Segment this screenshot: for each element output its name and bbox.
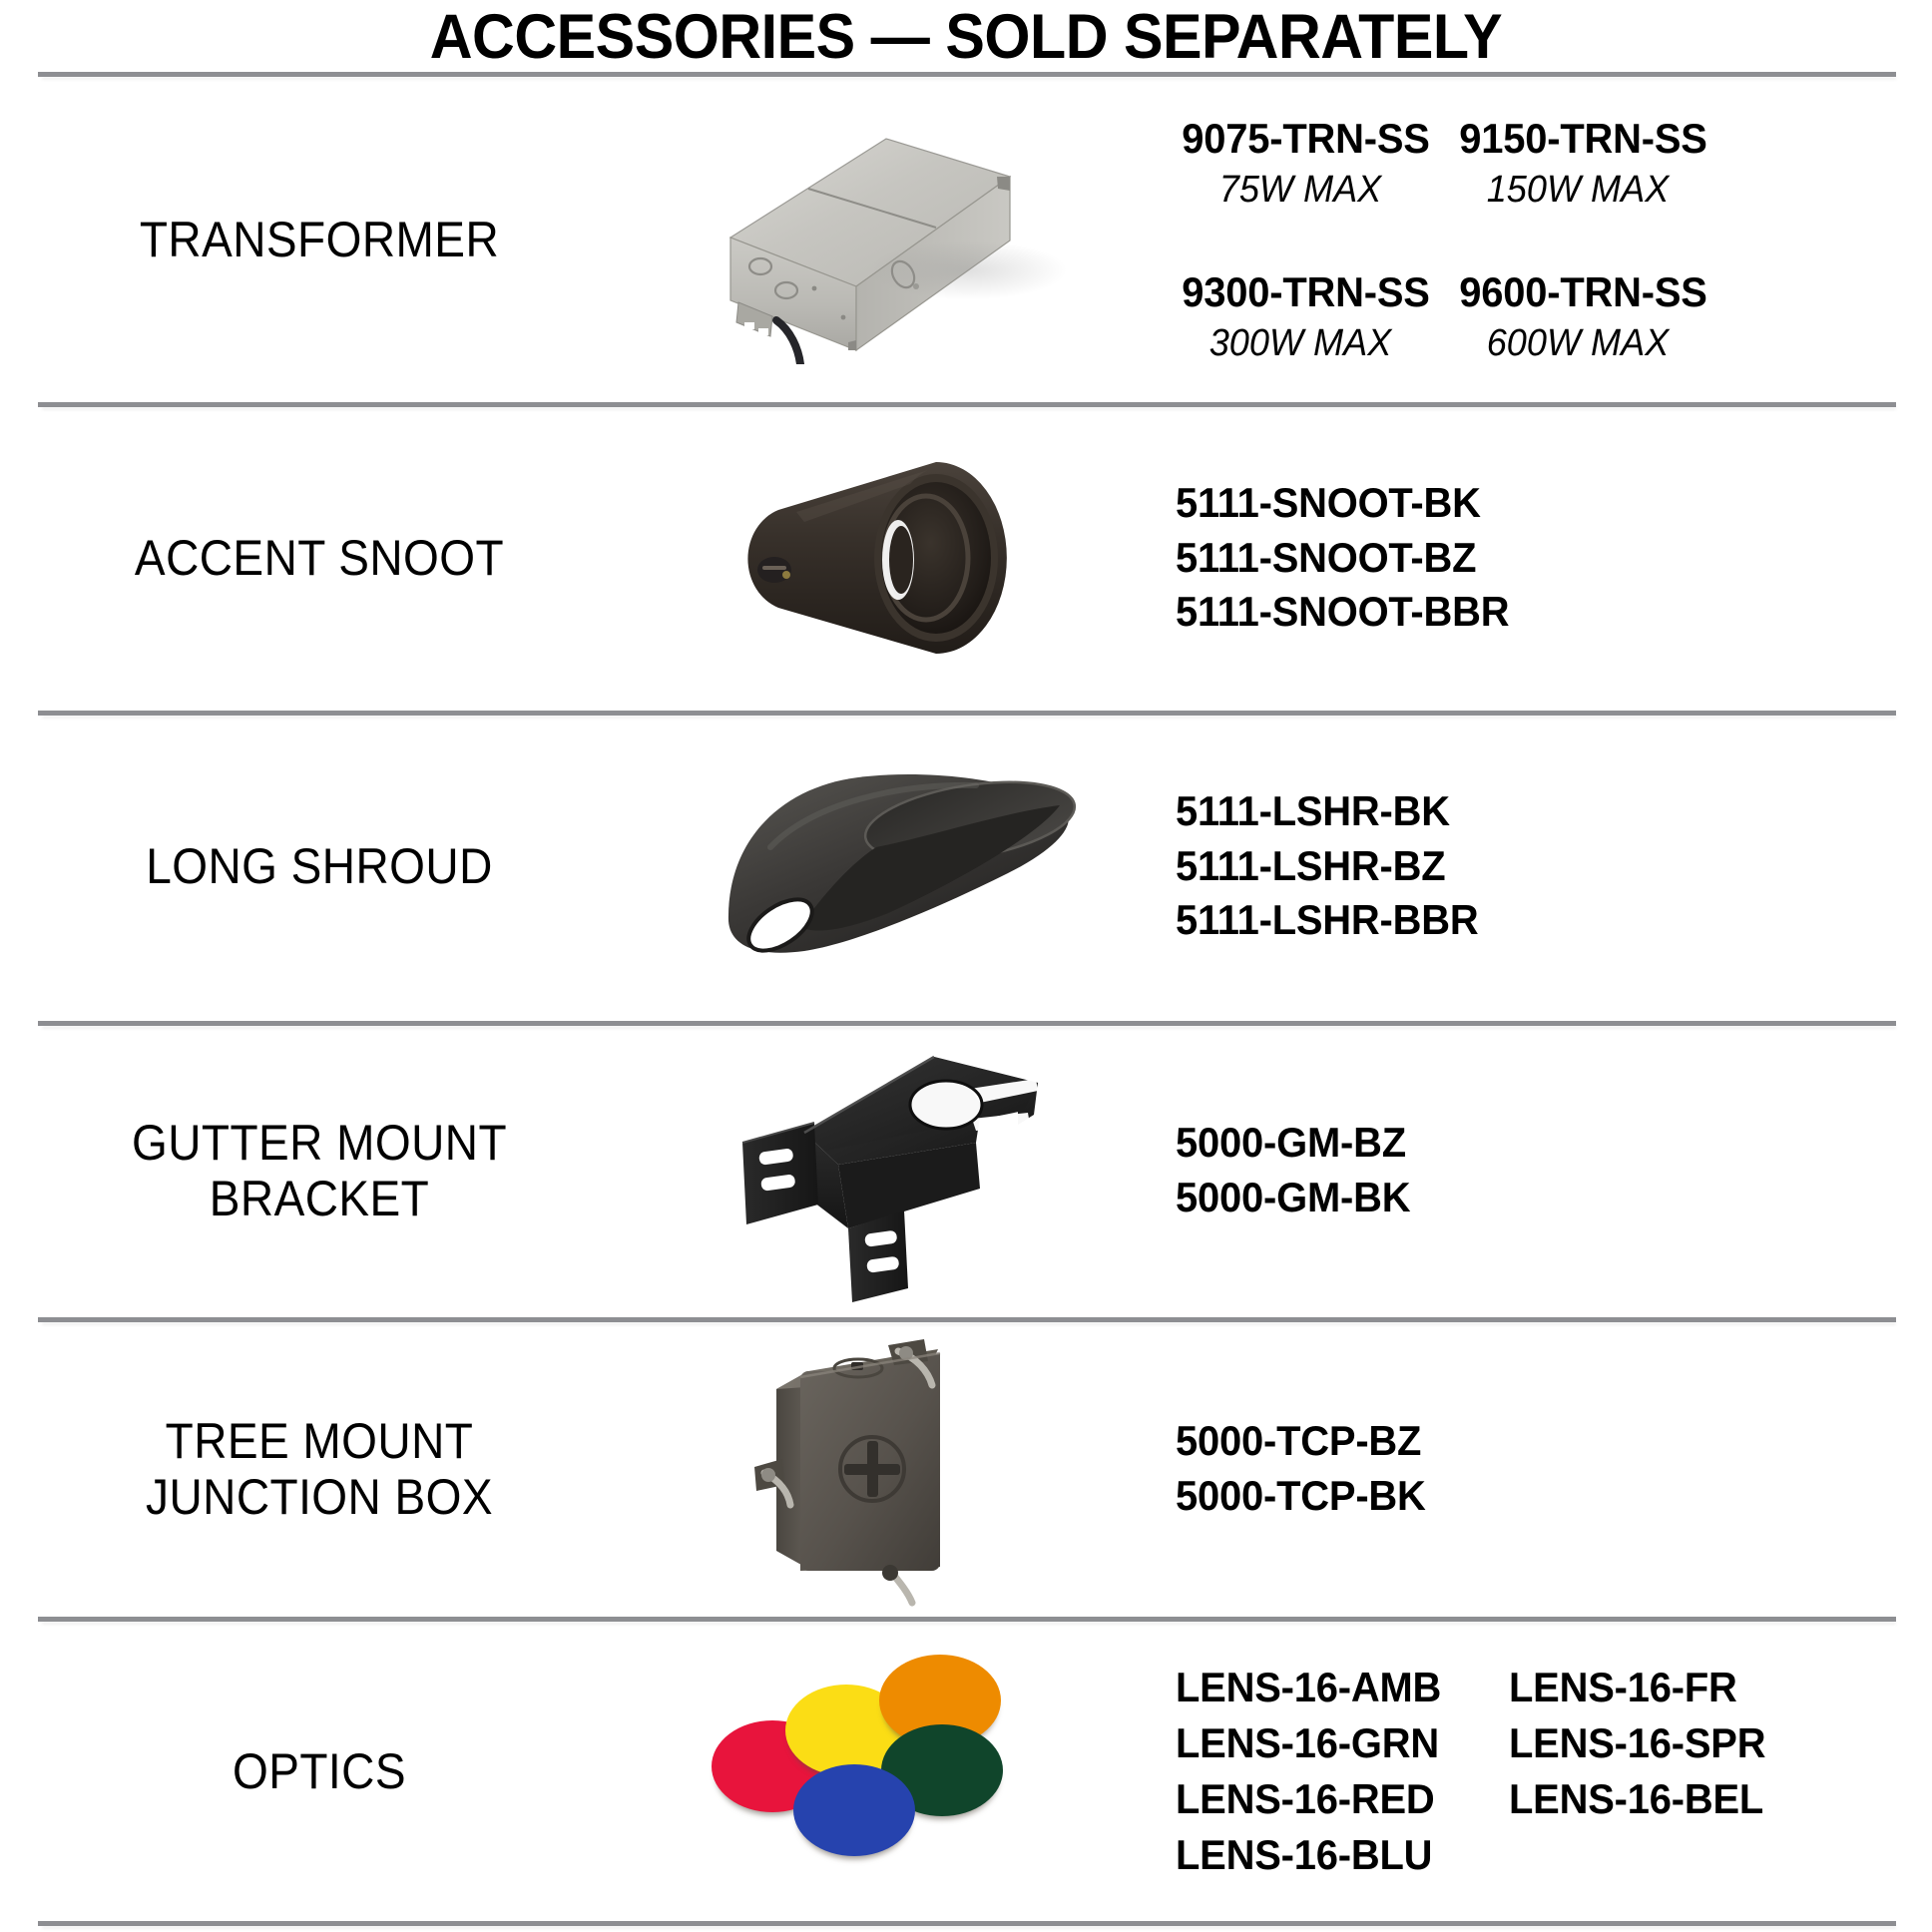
sku-code: LENS-16-AMB xyxy=(1176,1660,1441,1715)
row-label-line-1: GUTTER MOUNT xyxy=(26,1115,614,1171)
row-label-transformer: TRANSFORMER xyxy=(26,212,614,267)
sku-code: LENS-16-GRN xyxy=(1176,1715,1441,1771)
row-label-accent-snoot: ACCENT SNOOT xyxy=(26,530,614,586)
sku-code: 5111-SNOOT-BBR xyxy=(1176,585,1894,640)
sku-code: 5000-TCP-BK xyxy=(1176,1469,1894,1524)
accessory-row-gutter-mount-bracket: GUTTER MOUNT BRACKET xyxy=(0,1028,1932,1313)
divider-rule-3 xyxy=(38,1021,1896,1026)
sku-code: 9075-TRN-SS xyxy=(1182,112,1419,167)
sku-entry: 9600-TRN-SS 600W MAX xyxy=(1453,265,1702,367)
sku-list-gutter-mount-bracket: 5000-GM-BZ 5000-GM-BK xyxy=(1158,1116,1932,1224)
gutter-mount-bracket-illustration xyxy=(719,1039,1078,1303)
sku-code: 5111-SNOOT-BK xyxy=(1176,476,1894,531)
row-label-line-1: TREE MOUNT xyxy=(26,1413,614,1469)
sku-code: LENS-16-RED xyxy=(1176,1771,1441,1827)
accessory-row-tree-mount-junction-box: TREE MOUNT JUNCTION BOX xyxy=(0,1325,1932,1613)
sku-code: 9300-TRN-SS xyxy=(1182,265,1419,320)
sku-code: 5000-GM-BZ xyxy=(1176,1116,1894,1171)
sku-list-transformer: 9075-TRN-SS 75W MAX 9150-TRN-SS 150W MAX… xyxy=(1158,112,1932,367)
divider-rule-bottom xyxy=(38,1921,1896,1926)
sku-code: LENS-16-BEL xyxy=(1509,1771,1765,1827)
accessory-row-transformer: TRANSFORMER xyxy=(0,80,1932,399)
sku-code: LENS-16-FR xyxy=(1509,1660,1765,1715)
accessory-row-optics: OPTICS LENS-16-AMB LENS-16-GRN LENS-16-R… xyxy=(0,1625,1932,1918)
product-image-gutter-mount-bracket xyxy=(639,1039,1158,1303)
sku-code: 5000-GM-BK xyxy=(1176,1171,1894,1225)
lens-disc-blue xyxy=(793,1764,915,1856)
accent-snoot-illustration xyxy=(738,448,1058,668)
sku-code: 5000-TCP-BZ xyxy=(1176,1414,1894,1469)
product-image-tree-mount-junction-box xyxy=(639,1327,1158,1612)
sku-code: LENS-16-SPR xyxy=(1509,1715,1765,1771)
divider-rule-top xyxy=(38,72,1896,77)
sku-code: 5111-LSHR-BK xyxy=(1176,784,1894,839)
sku-list-accent-snoot: 5111-SNOOT-BK 5111-SNOOT-BZ 5111-SNOOT-B… xyxy=(1158,476,1932,640)
sku-code: 9600-TRN-SS xyxy=(1459,265,1696,320)
sku-note: 300W MAX xyxy=(1182,320,1419,368)
accessory-row-long-shroud: LONG SHROUD xyxy=(0,717,1932,1016)
sku-entry: 9075-TRN-SS 75W MAX xyxy=(1176,112,1425,214)
row-label-line-2: JUNCTION BOX xyxy=(26,1469,614,1525)
long-shroud-illustration xyxy=(709,751,1088,981)
optics-sku-column-2: LENS-16-FR LENS-16-SPR LENS-16-BEL xyxy=(1509,1660,1779,1882)
divider-rule-5 xyxy=(38,1617,1896,1622)
tree-mount-junction-box-illustration xyxy=(748,1327,1048,1612)
sku-entry: 9150-TRN-SS 150W MAX xyxy=(1453,112,1702,214)
sku-note: 150W MAX xyxy=(1459,167,1696,215)
product-image-long-shroud xyxy=(639,751,1158,981)
sku-entry: 9300-TRN-SS 300W MAX xyxy=(1176,265,1425,367)
transformer-illustration xyxy=(699,115,1098,364)
sku-list-long-shroud: 5111-LSHR-BK 5111-LSHR-BZ 5111-LSHR-BBR xyxy=(1158,784,1932,948)
product-image-transformer xyxy=(639,115,1158,364)
sku-code: 5111-SNOOT-BZ xyxy=(1176,531,1894,586)
row-label-line-2: BRACKET xyxy=(26,1171,614,1226)
sku-list-tree-mount-junction-box: 5000-TCP-BZ 5000-TCP-BK xyxy=(1158,1414,1932,1523)
sku-list-optics: LENS-16-AMB LENS-16-GRN LENS-16-RED LENS… xyxy=(1158,1660,1932,1882)
sku-code: 5111-LSHR-BZ xyxy=(1176,839,1894,894)
divider-rule-2 xyxy=(38,711,1896,716)
sku-code: 9150-TRN-SS xyxy=(1459,112,1696,167)
sku-code: LENS-16-BLU xyxy=(1176,1827,1441,1883)
row-label-optics: OPTICS xyxy=(26,1743,614,1799)
optics-sku-column-1: LENS-16-AMB LENS-16-GRN LENS-16-RED LENS… xyxy=(1176,1660,1455,1882)
row-label-long-shroud: LONG SHROUD xyxy=(26,838,614,894)
divider-rule-4 xyxy=(38,1317,1896,1322)
page-title: ACCESSORIES — SOLD SEPARATELY xyxy=(58,0,1874,69)
product-image-optics xyxy=(639,1647,1158,1896)
accessory-row-accent-snoot: ACCENT SNOOT xyxy=(0,409,1932,707)
product-image-accent-snoot xyxy=(639,448,1158,668)
row-label-gutter-mount-bracket: GUTTER MOUNT BRACKET xyxy=(26,1115,614,1226)
sku-code: 5111-LSHR-BBR xyxy=(1176,893,1894,948)
row-label-tree-mount-junction-box: TREE MOUNT JUNCTION BOX xyxy=(26,1413,614,1525)
sku-note: 600W MAX xyxy=(1459,320,1696,368)
sku-note: 75W MAX xyxy=(1182,167,1419,215)
divider-rule-1 xyxy=(38,402,1896,407)
